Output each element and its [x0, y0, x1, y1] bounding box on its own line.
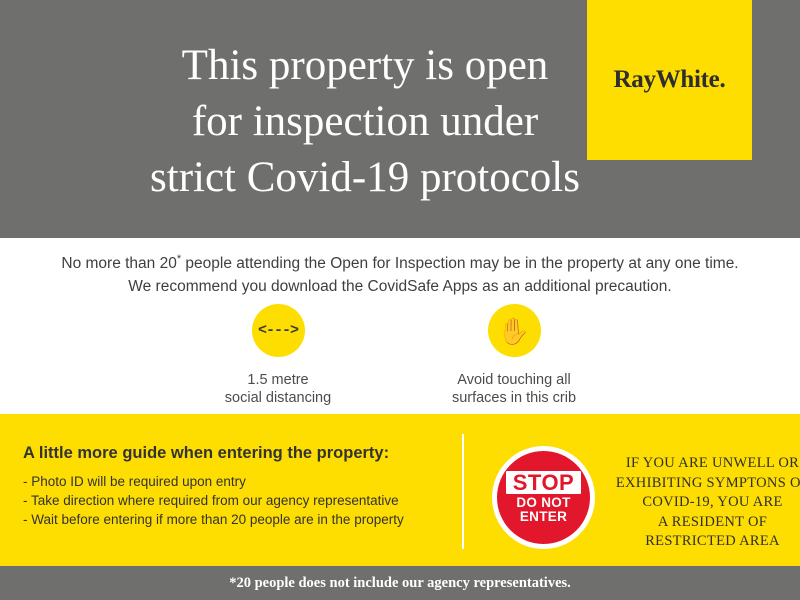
unwell-warning-line: EXHIBITING SYMPTONS OF	[605, 474, 800, 494]
covidsafe-recommendation: We recommend you download the CovidSafe …	[0, 278, 800, 296]
stop-sign-subtext: DO NOT ENTER	[516, 496, 570, 525]
social-distancing-caption-line-1: 1.5 metre	[188, 371, 368, 389]
entry-guide-block: A little more guide when entering the pr…	[23, 444, 473, 529]
capacity-notice-prefix: No more than 20	[61, 255, 176, 272]
no-touching-hand-icon: ✋	[488, 304, 541, 357]
unwell-warning-line: COVID-19, YOU ARE	[605, 493, 800, 513]
page-title-line-1: This property is open	[60, 38, 670, 94]
yellow-band: A little more guide when entering the pr…	[0, 414, 800, 566]
stop-sign-word: STOP	[506, 471, 582, 494]
unwell-warning-line: IF YOU ARE UNWELL OR	[605, 454, 800, 474]
header-band: This property is open for inspection und…	[30, 0, 770, 238]
page-title-line-3: strict Covid-19 protocols	[60, 150, 670, 206]
capacity-notice-line: No more than 20* people attending the Op…	[0, 253, 800, 273]
logo-wordmark: RayWhite.	[587, 0, 752, 160]
entry-guide-title: A little more guide when entering the pr…	[23, 444, 473, 463]
social-distancing-caption: 1.5 metre social distancing	[188, 371, 368, 407]
stop-sign-face: STOP DO NOT ENTER	[497, 451, 590, 544]
entry-guide-item: - Take direction where required from our…	[23, 491, 473, 510]
no-touching-caption: Avoid touching all surfaces in this crib	[424, 371, 604, 407]
social-distancing-arrow-glyph: <--->	[258, 322, 298, 339]
social-distancing-icon: <--->	[252, 304, 305, 357]
page-title: This property is open for inspection und…	[60, 38, 670, 206]
stop-sign-subtext-line-1: DO NOT	[516, 496, 570, 511]
icon-block-social-distancing: <---> 1.5 metre social distancing	[188, 304, 368, 407]
yellow-band-content: A little more guide when entering the pr…	[30, 414, 770, 566]
unwell-warning-line: A RESIDENT OF	[605, 513, 800, 533]
raywhite-logo: RayWhite.	[587, 0, 752, 160]
social-distancing-caption-line-2: social distancing	[188, 389, 368, 407]
no-touching-caption-line-2: surfaces in this crib	[424, 389, 604, 407]
hand-glyph: ✋	[498, 318, 530, 344]
footer-disclaimer: *20 people does not include our agency r…	[0, 575, 800, 592]
no-touching-caption-line-1: Avoid touching all	[424, 371, 604, 389]
unwell-warning-line: RESTRICTED AREA	[605, 532, 800, 552]
page-title-line-2: for inspection under	[60, 94, 670, 150]
footer-band: *20 people does not include our agency r…	[0, 566, 800, 600]
notice-section: No more than 20* people attending the Op…	[0, 238, 800, 414]
vertical-divider	[462, 434, 464, 549]
capacity-notice-suffix: people attending the Open for Inspection…	[181, 255, 739, 272]
unwell-warning-text: IF YOU ARE UNWELL OR EXHIBITING SYMPTONS…	[605, 454, 800, 552]
stop-sign-subtext-line-2: ENTER	[516, 510, 570, 525]
icon-block-no-touching: ✋ Avoid touching all surfaces in this cr…	[424, 304, 604, 407]
entry-guide-item: - Photo ID will be required upon entry	[23, 472, 473, 491]
logo-wordmark-dot: .	[719, 66, 725, 94]
stop-do-not-enter-icon: STOP DO NOT ENTER	[492, 446, 595, 549]
logo-wordmark-text: RayWhite	[614, 66, 720, 94]
poster-page: This property is open for inspection und…	[0, 0, 800, 600]
entry-guide-item: - Wait before entering if more than 20 p…	[23, 510, 473, 529]
